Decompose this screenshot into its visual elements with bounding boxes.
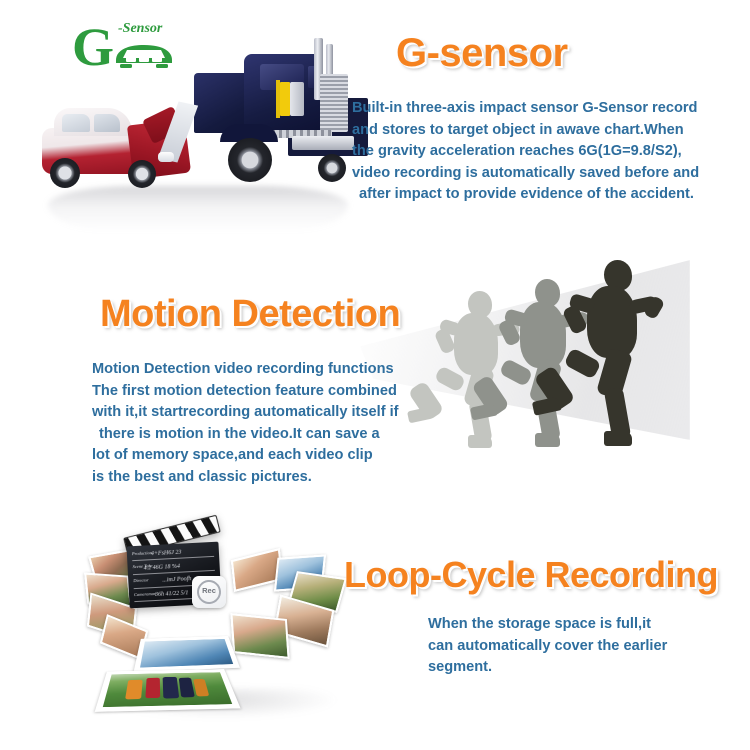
clapper-handwriting: ...imJ Poofh (162, 576, 191, 584)
truck-grille (320, 74, 348, 132)
truck-rear-wheel (318, 154, 346, 182)
body-line: the gravity acceleration reaches 6G(1G=9… (352, 141, 699, 163)
body-line: after impact to provide evidence of the … (352, 184, 699, 206)
body-line: When the storage space is full,it (428, 614, 667, 636)
section-title-loop-cycle-recording: Loop-Cycle Recording (344, 557, 718, 593)
body-line: lot of memory space,and each video clip (92, 445, 399, 467)
car-rear-wheel (50, 158, 80, 188)
photo-thumbnail-large (134, 636, 240, 672)
runner-silhouette-dark (538, 260, 683, 450)
motion-detection-illustration (410, 250, 750, 450)
photo-thumbnail (230, 613, 289, 659)
section-title-g-sensor: G-sensor (396, 33, 568, 73)
section-body-g-sensor: Built-in three-axis impact sensor G-Sens… (352, 98, 699, 206)
section-body-motion-detection: Motion Detection video recording functio… (92, 359, 399, 488)
g-sensor-logo: G -Sensor (72, 22, 184, 74)
rec-button-label: Rec (192, 586, 226, 595)
truck-bumper (292, 136, 354, 150)
car-front-window (94, 114, 120, 132)
body-line: segment. (428, 657, 667, 679)
semi-truck (172, 38, 367, 188)
logo-sensor-text: -Sensor (118, 22, 162, 36)
section-title-motion-detection: Motion Detection (100, 295, 400, 333)
clapper-label: Director (133, 577, 149, 583)
body-line: video recording is automatically saved b… (352, 163, 699, 185)
car-headlight (158, 152, 174, 162)
crash-reflection (48, 186, 348, 232)
clapper-handwriting: 4.2 46G 18 %4 (144, 564, 181, 572)
body-line: there is motion in the video.It can save… (92, 424, 399, 446)
truck-yellow-panel (280, 82, 290, 116)
car-rear-window (62, 114, 90, 132)
body-line: Motion Detection video recording functio… (92, 359, 399, 381)
product-feature-page: G -Sensor G-sensor Built-in three-axis i… (0, 0, 750, 750)
body-line: is the best and classic pictures. (92, 467, 399, 489)
section-body-loop-cycle-recording: When the storage space is full,it can au… (428, 614, 667, 679)
truck-front-wheel (228, 138, 272, 182)
g-sensor-illustration: G -Sensor (8, 14, 358, 224)
truck-chrome-panel (290, 82, 304, 116)
soccer-photo-content (103, 672, 232, 707)
clapper-handwriting: 36h 41/22 5/1 (155, 590, 189, 598)
car-front-wheel (128, 160, 156, 188)
crashed-red-car (42, 106, 192, 188)
loop-recording-illustration: Production 4+FsH6J 23 Scene Take 4.2 46G… (80, 518, 380, 728)
rec-button[interactable]: Rec (192, 576, 226, 608)
body-line: can automatically cover the earlier (428, 636, 667, 658)
body-line: Built-in three-axis impact sensor G-Sens… (352, 98, 699, 120)
body-line: The first motion detection feature combi… (92, 381, 399, 403)
body-line: with it,it startrecording automatically … (92, 402, 399, 424)
clapper-handwriting: 4+FsH6J 23 (151, 550, 182, 558)
logo-car-icon (108, 38, 180, 68)
photo-thumbnail-large (95, 669, 241, 712)
clapper-label: Production (132, 550, 152, 556)
clapper-label: Cameraman (134, 591, 156, 597)
body-line: and stores to target object in awave cha… (352, 120, 699, 142)
